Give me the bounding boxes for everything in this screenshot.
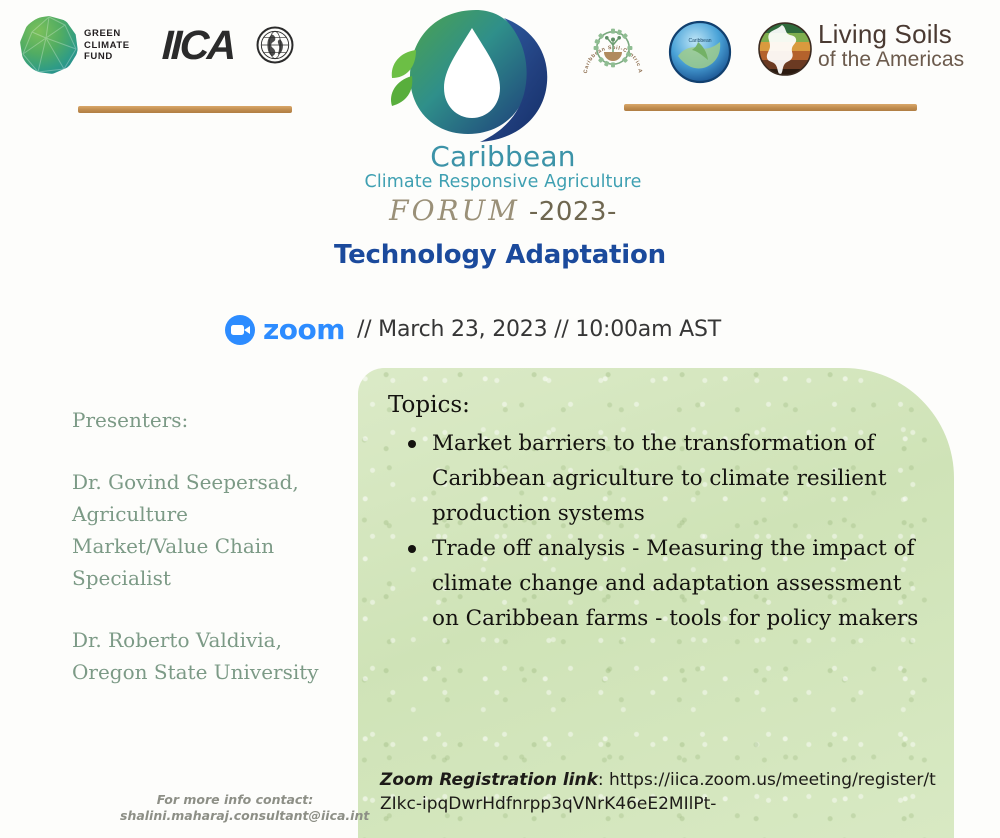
topics-panel: Topics: Market barriers to the transform… [358, 368, 954, 838]
forum-line-year: -2023- [529, 197, 617, 227]
divider-right [624, 104, 917, 111]
topics-heading: Topics: [388, 392, 470, 418]
bullet-icon [408, 545, 416, 553]
forum-line-forum: FORUM [389, 194, 520, 227]
registration-label: Zoom Registration link [380, 770, 598, 790]
registration-separator: : [598, 770, 604, 790]
topic-item: Market barriers to the transformation of… [402, 426, 932, 531]
iica-globe-icon [256, 26, 294, 64]
registration-line: Zoom Registration link: https://iica.zoo… [380, 768, 940, 816]
green-climate-fund-wordmark: GREEN CLIMATE FUND [84, 28, 130, 63]
presenter-1: Dr. Govind Seepersad, Agriculture Market… [72, 466, 342, 594]
living-soils-line-1: Living Soils [818, 19, 952, 50]
presenters-heading: Presenters: [72, 404, 342, 436]
zoom-wordmark: zoom [263, 313, 345, 346]
living-soils-line-2: of the Americas [818, 48, 964, 72]
svg-text:Caribbean: Caribbean [688, 38, 711, 44]
forum-wordmark: Caribbean Climate Responsive Agriculture… [358, 142, 648, 227]
contact-email[interactable]: shalini.maharaj.consultant@iica.int [120, 808, 350, 824]
topics-list: Market barriers to the transformation of… [402, 426, 932, 636]
presenter-2: Dr. Roberto Valdivia, Oregon State Unive… [72, 624, 342, 688]
meeting-line: zoom // March 23, 2023 // 10:00am AST [225, 313, 721, 346]
bullet-icon [408, 440, 416, 448]
forum-droplet-swoosh-icon [376, 4, 566, 149]
gcf-line-3: FUND [84, 51, 130, 63]
contact-line-1: For more info contact: [120, 792, 350, 808]
page-title: Technology Adaptation [0, 240, 1000, 270]
iica-wordmark: IICA [161, 22, 235, 69]
topic-item-text: Trade off analysis - Measuring the impac… [432, 536, 918, 631]
living-soils-disc-icon [758, 22, 812, 76]
green-climate-fund-logo: GREEN CLIMATE FUND [20, 12, 140, 82]
living-soils-logo: Living Soils of the Americas [758, 18, 988, 84]
topic-item: Trade off analysis - Measuring the impac… [402, 531, 932, 636]
contact-block: For more info contact: shalini.maharaj.c… [120, 792, 350, 824]
caribbean-forum-logo: Caribbean Climate Responsive Agriculture… [358, 4, 648, 236]
gcf-line-2: CLIMATE [84, 40, 130, 52]
poster-canvas: GREEN CLIMATE FUND IICA [0, 0, 1000, 838]
meeting-datetime: // March 23, 2023 // 10:00am AST [357, 317, 721, 342]
blue-globe-emblem-icon: Caribbean [668, 20, 732, 84]
forum-line-subtitle: Climate Responsive Agriculture [358, 172, 648, 192]
divider-left [78, 106, 292, 113]
topic-item-text: Market barriers to the transformation of… [432, 431, 886, 526]
iica-logo: IICA [162, 20, 292, 72]
forum-line-caribbean: Caribbean [358, 142, 648, 172]
gcf-line-1: GREEN [84, 28, 130, 40]
zoom-camera-icon [225, 315, 255, 345]
presenters-block: Presenters: Dr. Govind Seepersad, Agricu… [72, 404, 342, 718]
green-climate-fund-facets-icon [20, 16, 78, 74]
